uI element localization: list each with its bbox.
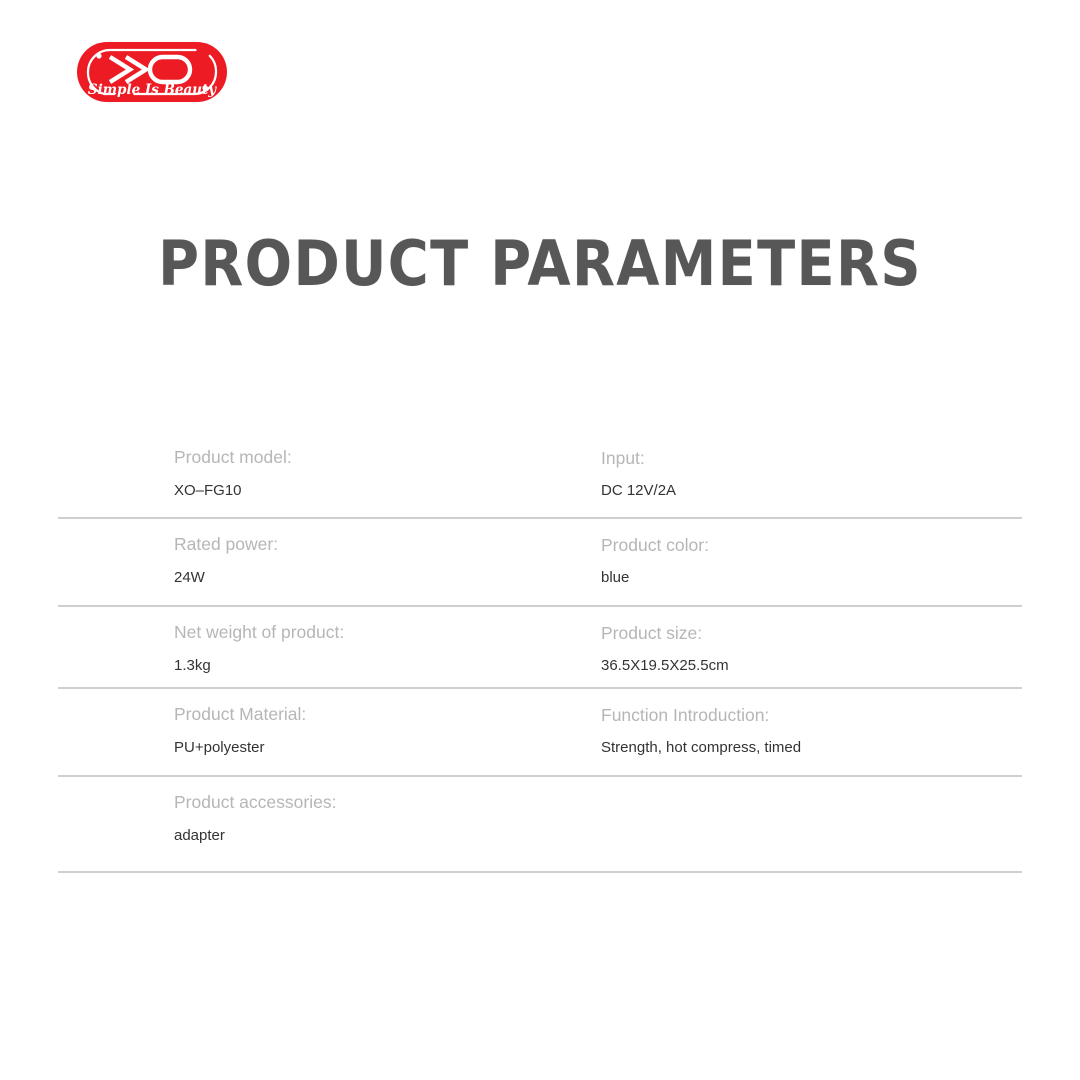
spec-label: Product model: [174, 446, 571, 468]
spec-label: Product size: [601, 622, 1022, 644]
spec-cell-net-weight: Net weight of product: 1.3kg [58, 607, 571, 687]
spec-label: Function Introduction: [601, 704, 1022, 726]
spec-value: DC 12V/2A [601, 481, 1022, 500]
spec-value: 24W [174, 568, 571, 587]
table-row: Net weight of product: 1.3kg Product siz… [58, 607, 1022, 689]
spec-label: Net weight of product: [174, 621, 571, 643]
spec-value: Strength, hot compress, timed [601, 738, 1022, 757]
table-row: Rated power: 24W Product color: blue [58, 519, 1022, 607]
xo-logo-icon: Simple Is Beauty [74, 38, 230, 106]
spec-value: adapter [174, 826, 571, 845]
spec-cell-product-model: Product model: XO–FG10 [58, 432, 571, 517]
spec-cell-product-material: Product Material: PU+polyester [58, 689, 571, 775]
table-row: Product Material: PU+polyester Function … [58, 689, 1022, 777]
xo-logo: Simple Is Beauty [74, 38, 230, 106]
spec-label: Product Material: [174, 703, 571, 725]
spec-value: PU+polyester [174, 738, 571, 757]
spec-label: Rated power: [174, 533, 571, 555]
spec-label: Product color: [601, 534, 1022, 556]
spec-cell-function-introduction: Function Introduction: Strength, hot com… [571, 689, 1022, 775]
logo-tagline: Simple Is Beauty [88, 82, 217, 98]
spec-cell-product-size: Product size: 36.5X19.5X25.5cm [571, 607, 1022, 687]
spec-cell-rated-power: Rated power: 24W [58, 519, 571, 605]
table-row: Product model: XO–FG10 Input: DC 12V/2A [58, 432, 1022, 519]
spec-value: XO–FG10 [174, 481, 571, 500]
spec-value: 36.5X19.5X25.5cm [601, 656, 1022, 675]
spec-label: Product accessories: [174, 791, 571, 813]
product-parameters-table: Product model: XO–FG10 Input: DC 12V/2A … [58, 432, 1022, 873]
page-title: PRODUCT PARAMETERS [54, 228, 1026, 300]
spec-value: 1.3kg [174, 656, 571, 675]
spec-value: blue [601, 568, 1022, 587]
table-row: Product accessories: adapter [58, 777, 1022, 873]
spec-cell-product-accessories: Product accessories: adapter [58, 777, 571, 871]
spec-label: Input: [601, 447, 1022, 469]
spec-cell-input: Input: DC 12V/2A [571, 432, 1022, 517]
spec-cell-product-color: Product color: blue [571, 519, 1022, 605]
